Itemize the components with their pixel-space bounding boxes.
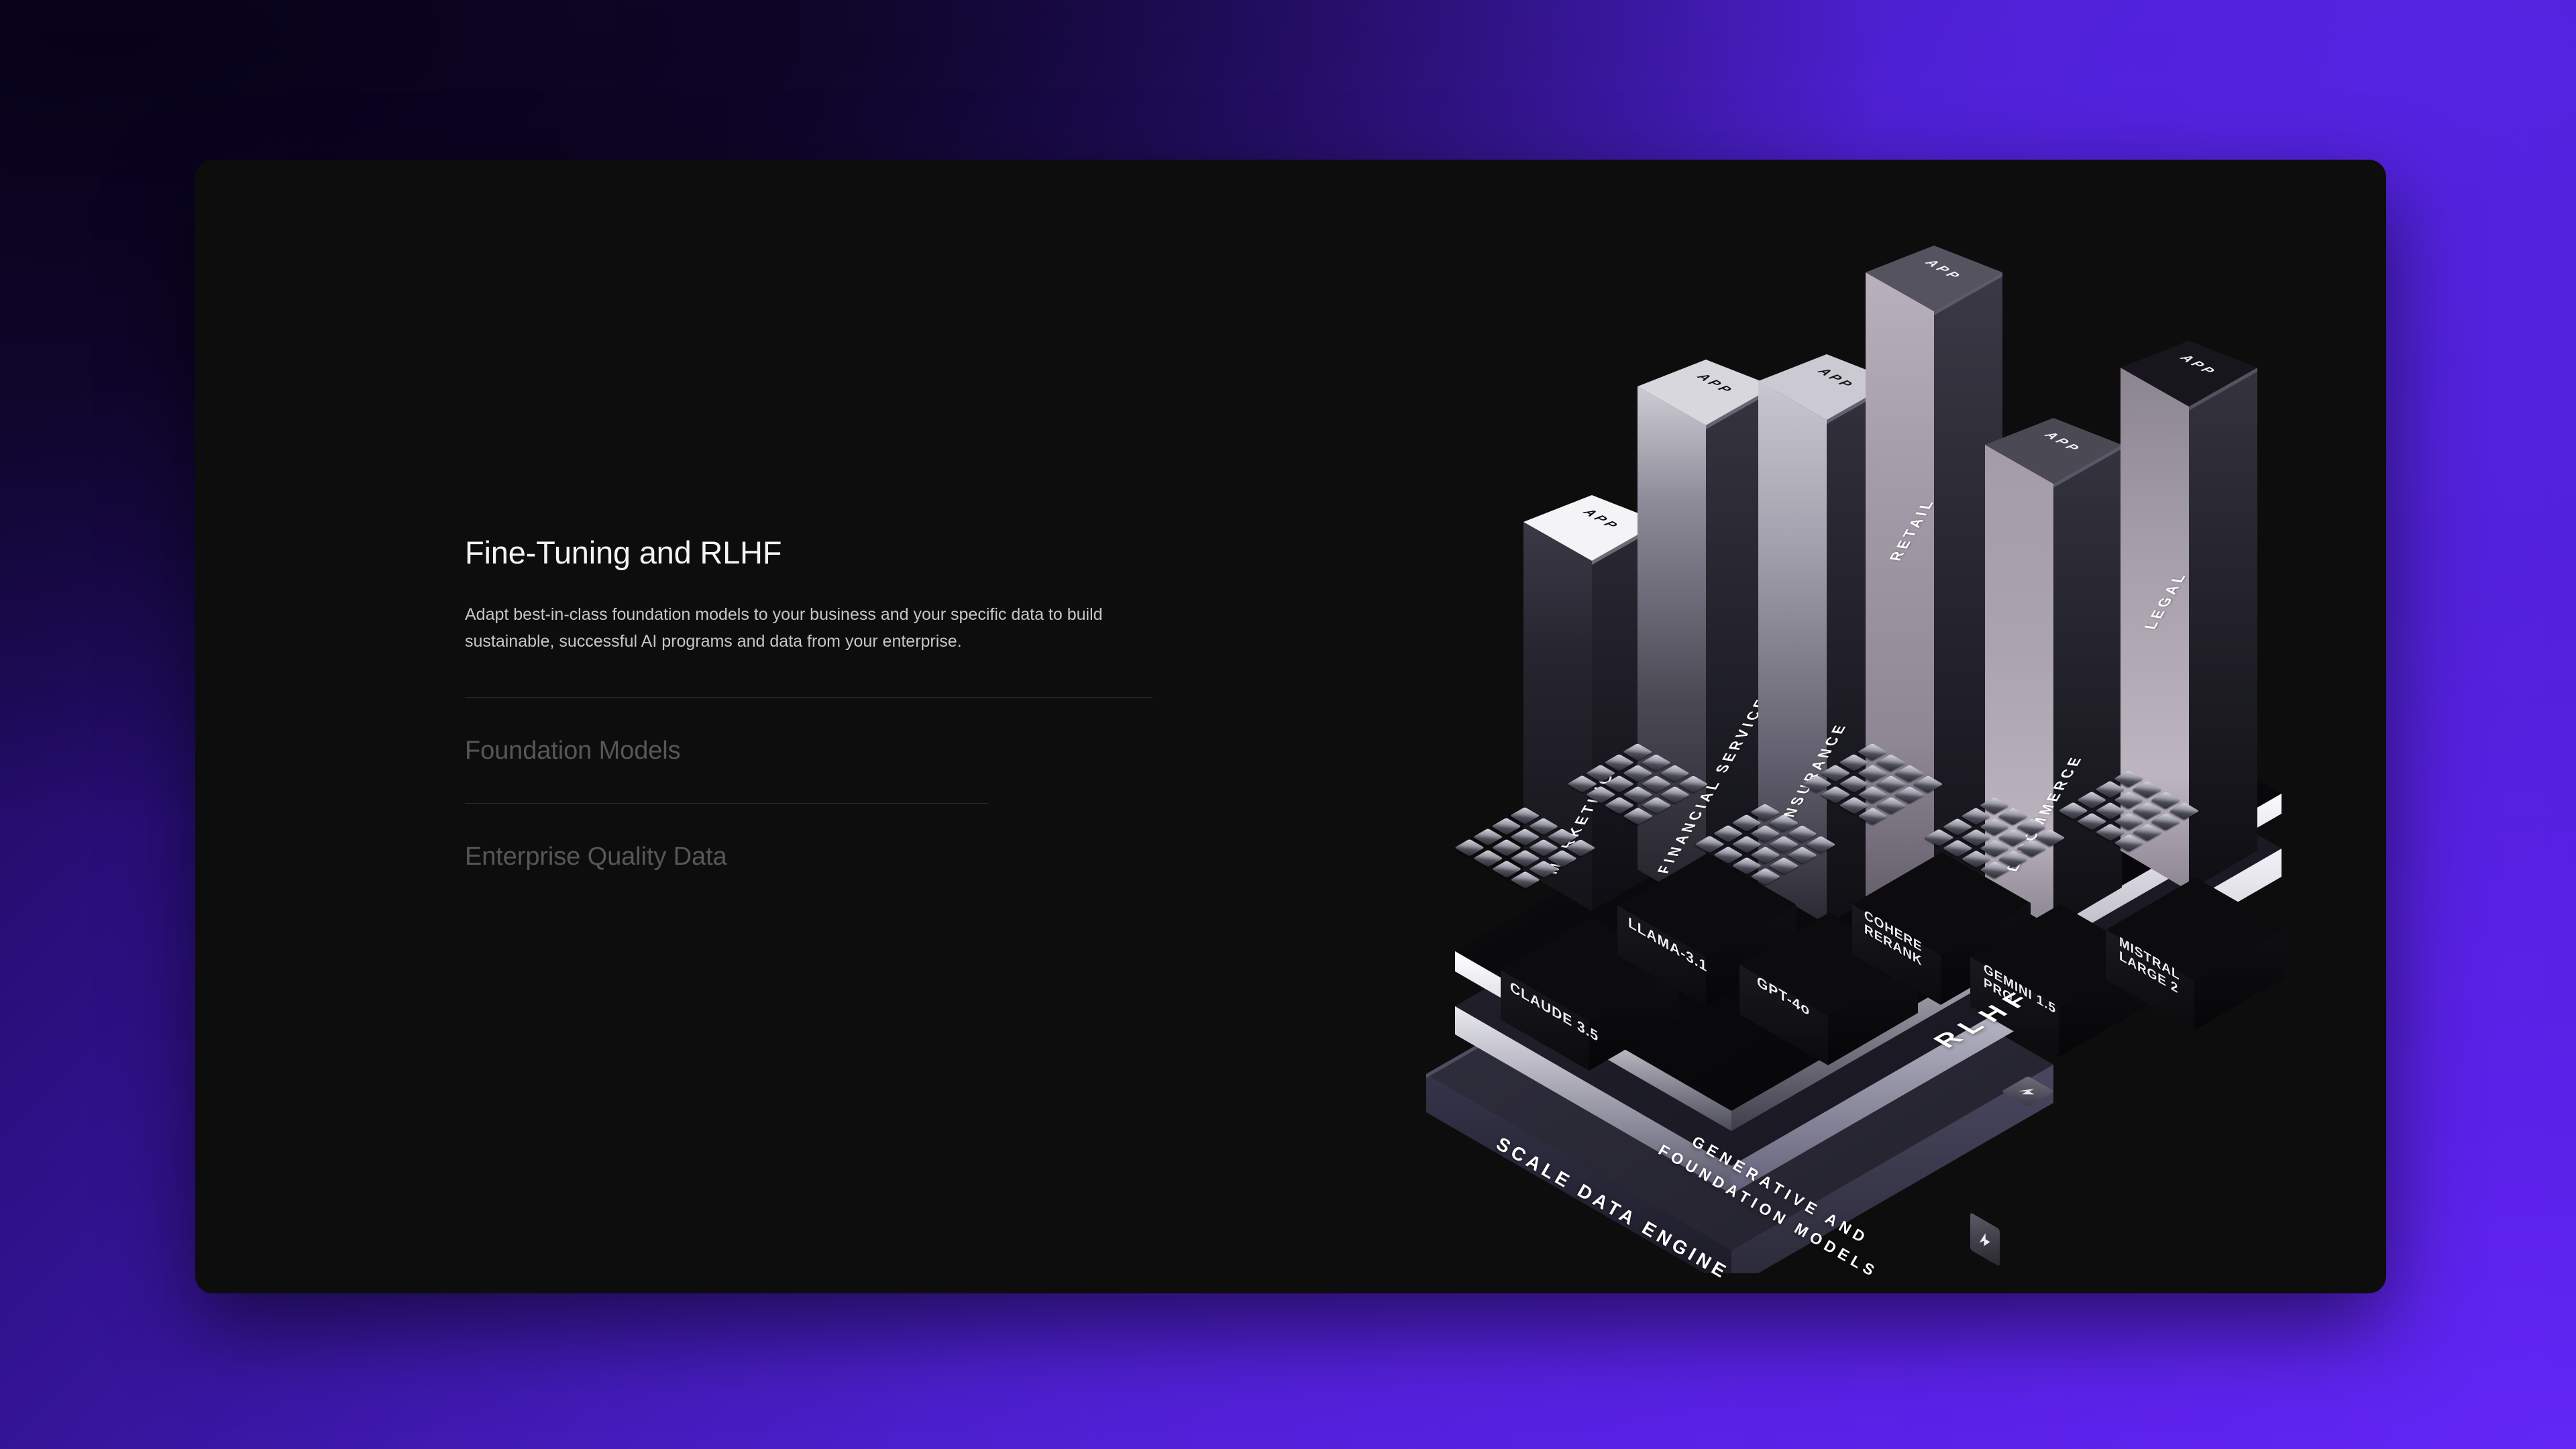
copy-column: Fine-Tuning and RLHF Adapt best-in-class… (465, 535, 1203, 871)
nav-item-label: Enterprise Quality Data (465, 843, 727, 871)
scale-logo-icon (2012, 1082, 2045, 1101)
isometric-stack-illustration: MARKETING APP FINANCI (1416, 274, 2355, 1273)
lede-paragraph: Adapt best-in-class foundation models to… (465, 601, 1152, 655)
page-title: Fine-Tuning and RLHF (465, 535, 1203, 570)
nav-item-label: Foundation Models (465, 737, 681, 765)
scale-logo-icon (1976, 1222, 1994, 1256)
feature-card: Fine-Tuning and RLHF Adapt best-in-class… (195, 160, 2386, 1293)
nav-item-enterprise-quality-data[interactable]: Enterprise Quality Data (465, 804, 1203, 871)
model-chips-svg (1416, 274, 2355, 1273)
nav-item-foundation-models[interactable]: Foundation Models (465, 698, 1203, 803)
